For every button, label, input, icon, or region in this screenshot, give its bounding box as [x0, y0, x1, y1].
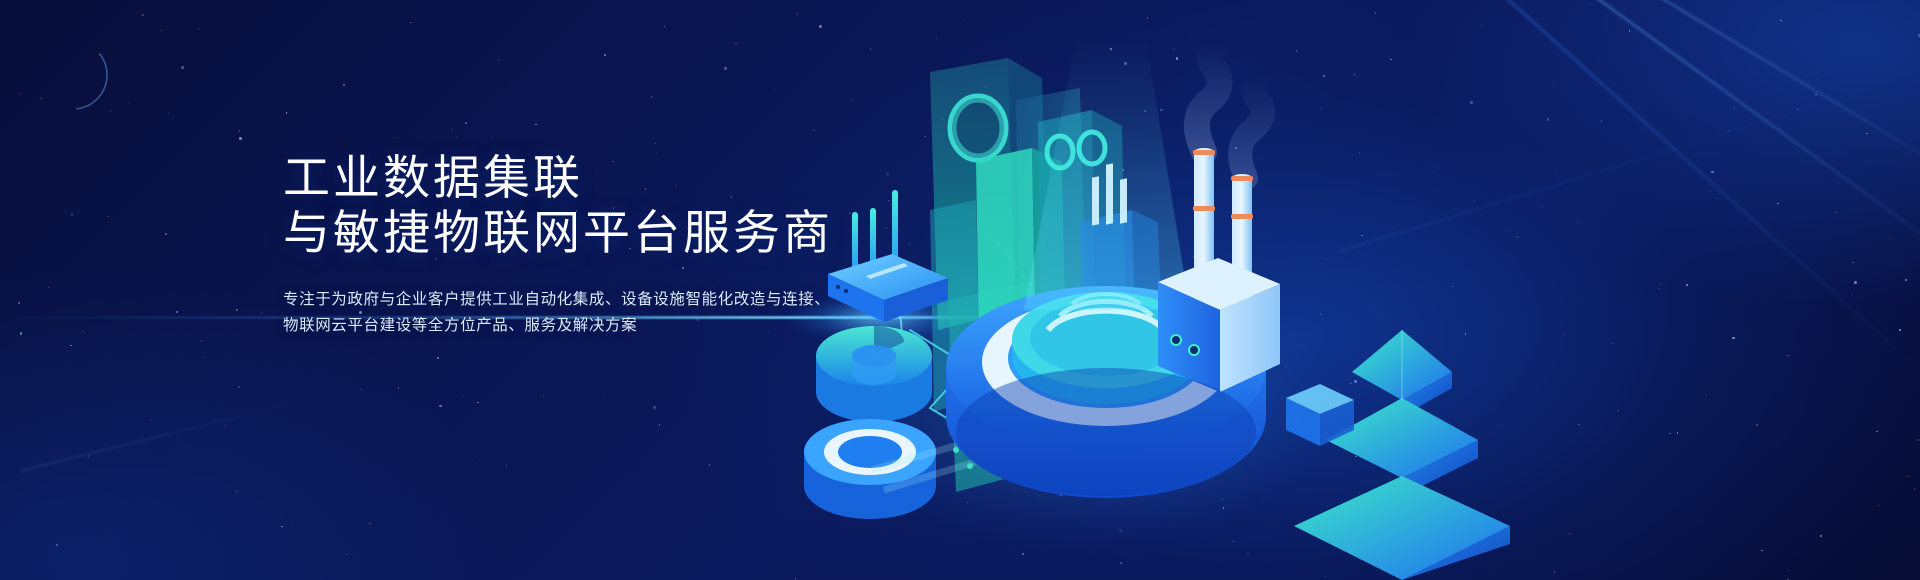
stack-band-1b [1193, 206, 1215, 211]
factory-port-1 [1171, 335, 1181, 345]
ring-pedestal [804, 419, 936, 519]
hero-illustration [780, 0, 1920, 580]
crescent-moon-icon [28, 30, 118, 120]
factory-smokestacks [1158, 44, 1280, 392]
disc-base-shadow [956, 368, 1256, 496]
stack-band-2b [1231, 214, 1253, 219]
hero-subtitle-line1: 专注于为政府与企业客户提供工业自动化集成、设备设施智能化改造与连接、 [283, 287, 903, 313]
stack-band-2a [1231, 176, 1253, 181]
hero-headline-line1: 工业数据集联 [283, 150, 903, 205]
donut-cylinder [816, 326, 932, 422]
hero-copy: 工业数据集联 与敏捷物联网平台服务商 专注于为政府与企业客户提供工业自动化集成、… [283, 150, 903, 339]
light-ray-5 [20, 390, 341, 472]
smoke-plume-1 [1197, 44, 1220, 152]
hero-headline-line2: 与敏捷物联网平台服务商 [283, 205, 903, 260]
smoke-plume-2 [1240, 76, 1263, 178]
hero-subtitle-line2: 物联网云平台建设等全方位产品、服务及解决方案 [283, 313, 903, 339]
stack-band-1a [1193, 150, 1215, 155]
hero-banner: 工业数据集联 与敏捷物联网平台服务商 专注于为政府与企业客户提供工业自动化集成、… [0, 0, 1920, 580]
pyramid-tier-base [1294, 476, 1510, 580]
factory-port-2 [1189, 345, 1199, 355]
